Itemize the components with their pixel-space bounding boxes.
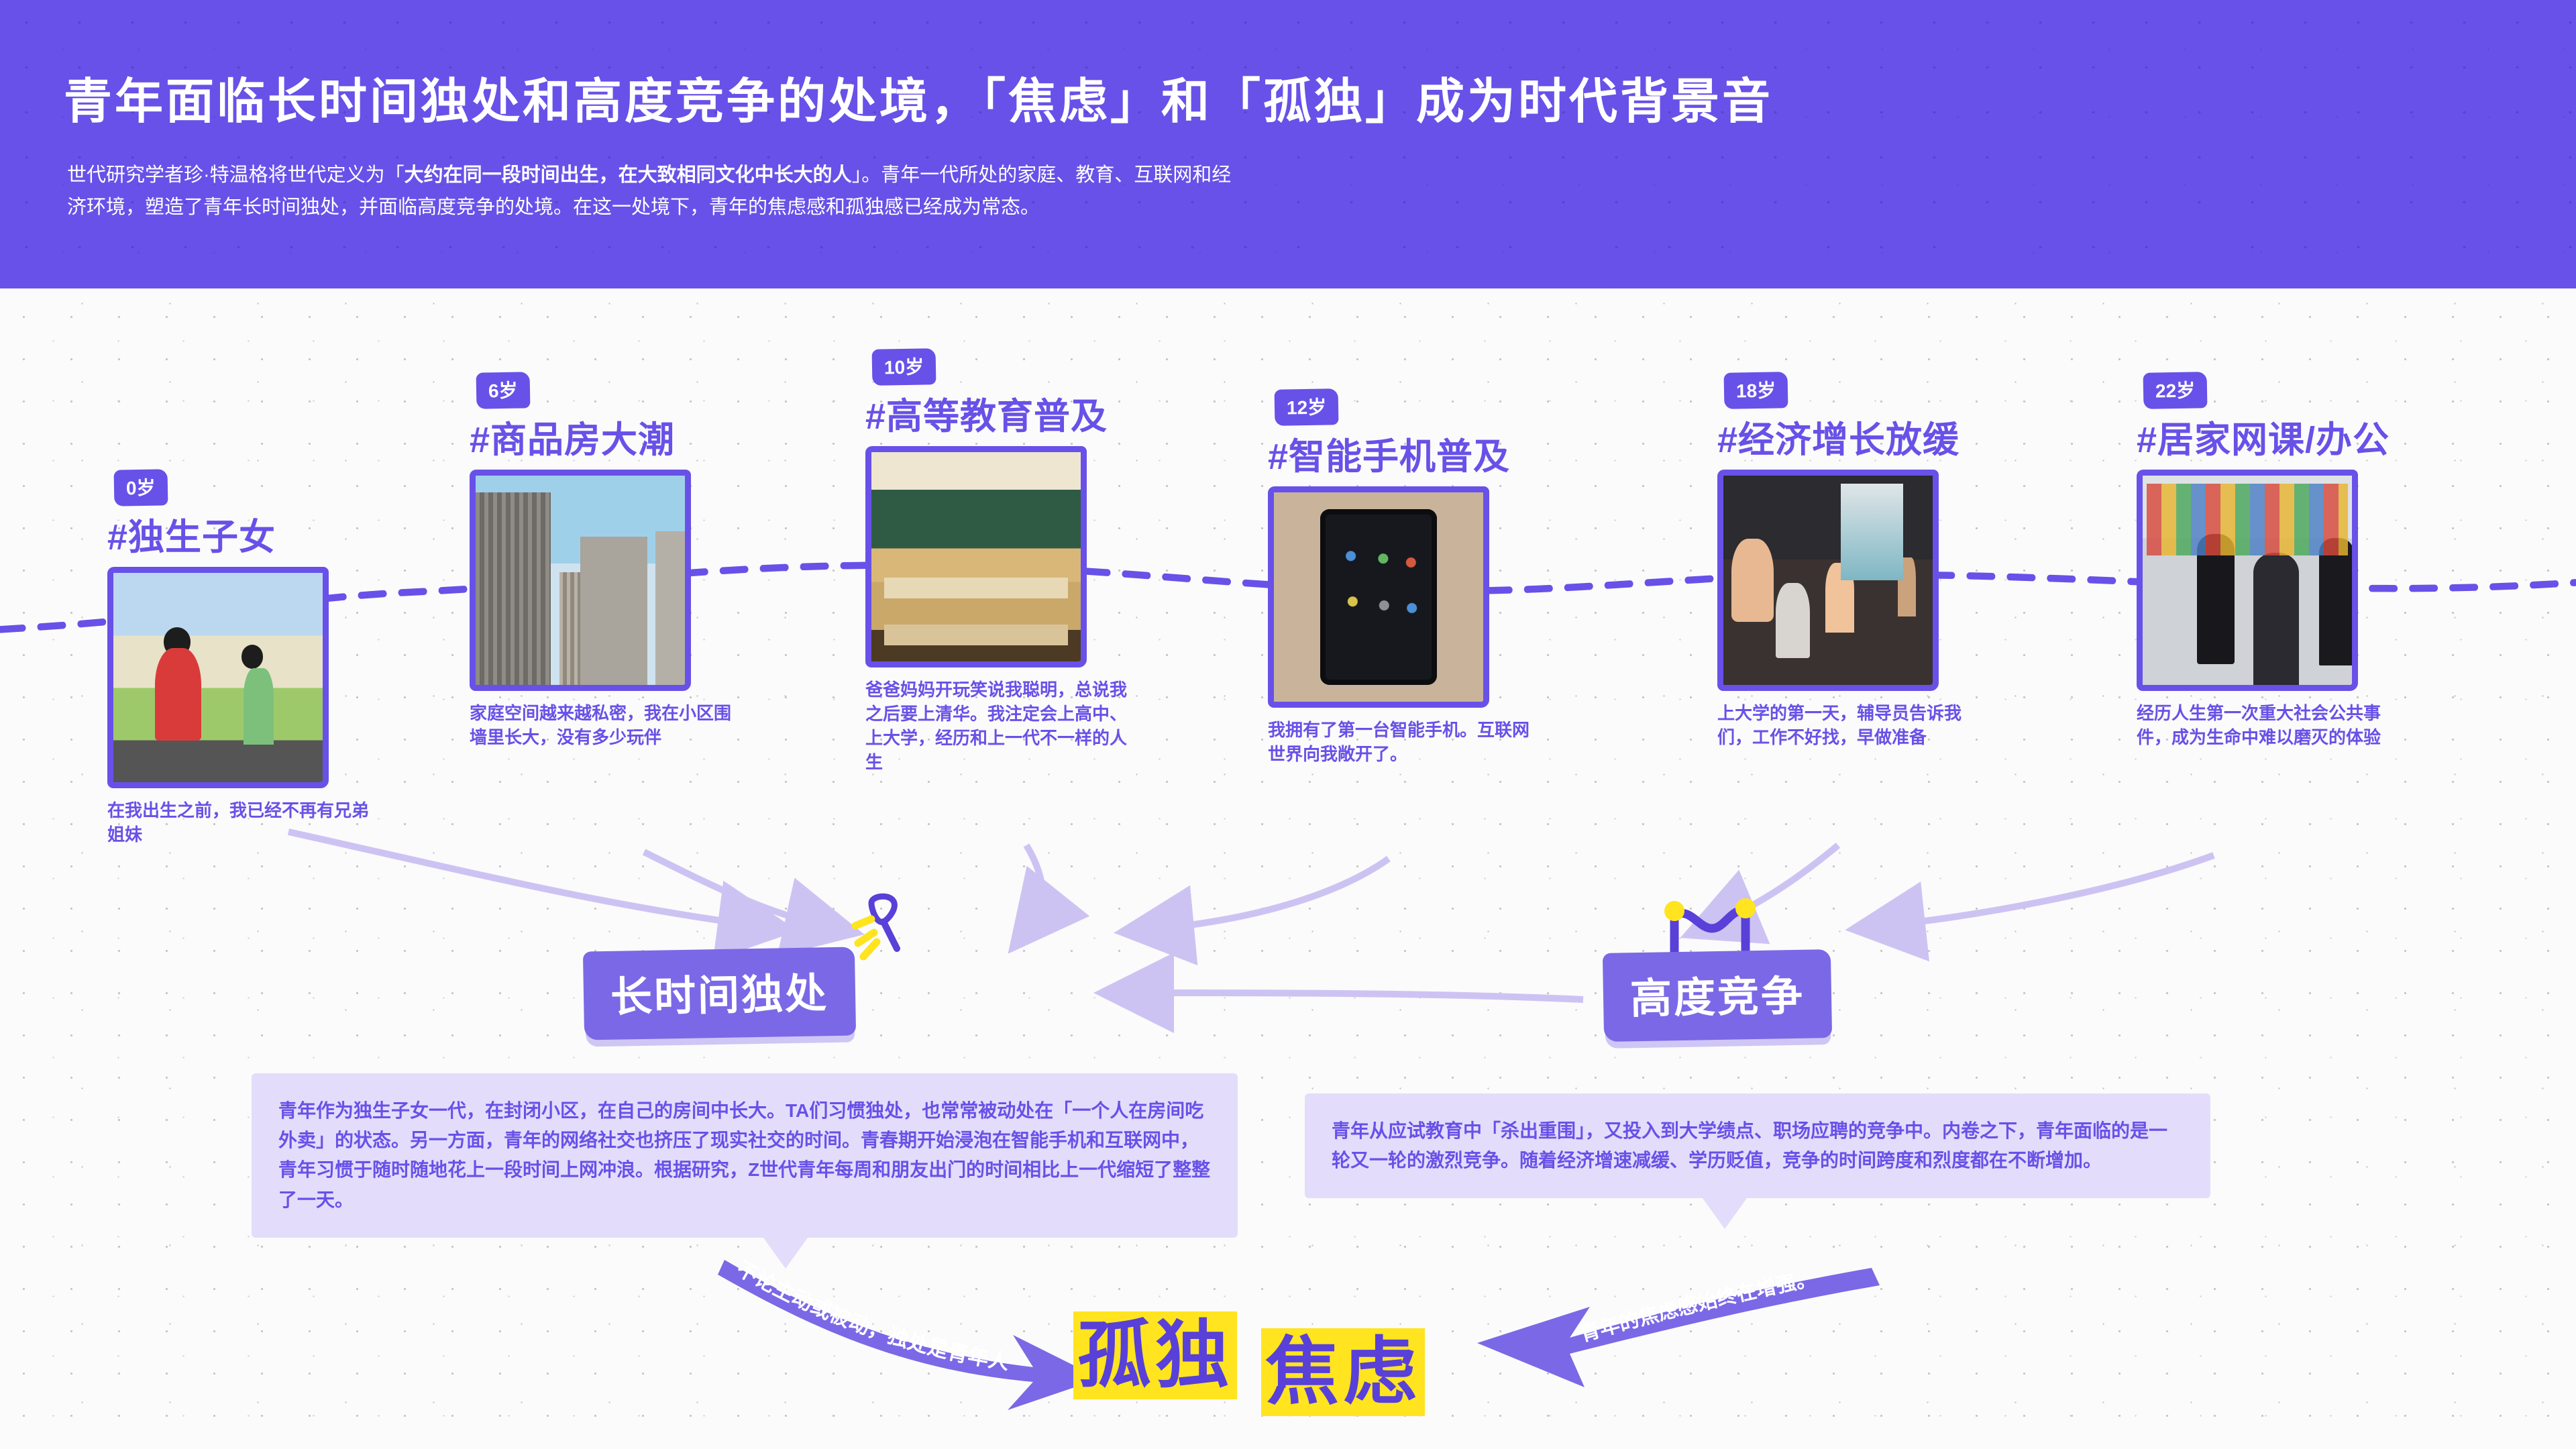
header-banner: 青年面临长时间独处和高度竞争的处境，「焦虑」和「孤独」成为时代背景音 世代研究学…	[0, 0, 2576, 288]
card-hashtag-title: #智能手机普及	[1268, 427, 1550, 480]
timeline-card-3[interactable]: 12岁 #智能手机普及 我拥有了第一台智能手机。互联网世界向我敞开了。	[1268, 389, 1550, 767]
card-photo-smartphone	[1268, 486, 1489, 708]
header-torn-edge	[0, 268, 2576, 288]
age-badge: 10岁	[872, 348, 936, 386]
age-badge: 12岁	[1275, 388, 1339, 426]
subtitle-part-a: 世代研究学者珍·特温格将世代定义为「	[67, 164, 405, 186]
svg-text:青年的焦虑感始终在增强。: 青年的焦虑感始终在增强。	[1578, 1268, 1818, 1346]
card-photo-classroom	[865, 446, 1087, 667]
conclusion-word-loneliness: 孤独	[1073, 1295, 1237, 1402]
card-hashtag-title: #高等教育普及	[865, 386, 1147, 439]
age-badge: 6岁	[476, 372, 531, 409]
timeline-card-1[interactable]: 6岁 #商品房大潮 家庭空间越来越私密，我在小区围墙里长大，没有多少玩伴	[470, 372, 751, 750]
outcome-body-left-text: 青年作为独生子女一代，在封闭小区，在自己的房间中长大。TA们习惯独处，也常常被动…	[278, 1100, 1210, 1210]
arrow-label-left: 不论主动或被动，独处是青年人的底色。	[688, 1236, 1011, 1374]
timeline-card-4[interactable]: 18岁 #经济增长放缓 上大学的第一天，辅导员告诉我们，工作不好找，早做准备	[1717, 372, 1999, 750]
outcome-label-right[interactable]: 高度竞争	[1603, 949, 1832, 1042]
card-hashtag-title: #商品房大潮	[470, 410, 751, 463]
bubble-tail-right	[1701, 1195, 1749, 1229]
arrow-label-right: 青年的焦虑感始终在增强。	[1578, 1268, 1818, 1346]
card-hashtag-title: #独生子女	[107, 507, 389, 560]
card-photo-high-rise	[470, 470, 691, 691]
converging-arrows-group	[0, 792, 2576, 1073]
lamp-icon	[849, 892, 922, 966]
card-caption: 上大学的第一天，辅导员告诉我们，工作不好找，早做准备	[1717, 702, 1986, 750]
conclusion-word-anxiety-text: 焦虑	[1261, 1328, 1425, 1416]
card-hashtag-title: #居家网课/办公	[2137, 410, 2418, 463]
age-badge: 0岁	[114, 469, 168, 506]
card-hashtag-title: #经济增长放缓	[1717, 410, 1999, 463]
svg-text:不论主动或被动，独处是青年人的底色。: 不论主动或被动，独处是青年人的底色。	[688, 1236, 1011, 1374]
age-badge: 18岁	[1724, 372, 1788, 409]
outcome-body-right-text: 青年从应试教育中「杀出重围」，又投入到大学绩点、职场应聘的竞争中。内卷之下，青年…	[1332, 1120, 2167, 1171]
conclusion-word-anxiety: 焦虑	[1261, 1311, 1425, 1419]
outcome-label-left[interactable]: 长时间独处	[583, 947, 856, 1040]
card-caption: 经历人生第一次重大社会公共事件，成为生命中难以磨灭的体验	[2137, 702, 2405, 750]
timeline-card-0[interactable]: 0岁 #独生子女 在我出生之前，我已经不再有兄弟姐妹	[107, 470, 389, 847]
subtitle-definition-bold: 大约在同一段时间出生，在大致相同文化中长大的人	[405, 164, 852, 186]
header-subtitle: 世代研究学者珍·特温格将世代定义为「大约在同一段时间出生，在大致相同文化中长大的…	[67, 160, 2012, 224]
card-photo-children-drawing	[107, 567, 329, 788]
page-title: 青年面临长时间独处和高度竞争的处境，「焦虑」和「孤独」成为时代背景音	[64, 62, 2412, 132]
arrow-right-to-conclusion: 青年的焦虑感始终在增强。	[1469, 1268, 1885, 1422]
timeline-card-2[interactable]: 10岁 #高等教育普及 爸爸妈妈开玩笑说我聪明，总说我之后要上清华。我注定会上高…	[865, 349, 1147, 775]
subtitle-part-c: 」。青年一代所处的家庭、教育、互联网和经	[852, 164, 1232, 186]
card-caption: 爸爸妈妈开玩笑说我聪明，总说我之后要上清华。我注定会上高中、上大学，经历和上一代…	[865, 678, 1134, 775]
outcome-body-right: 青年从应试教育中「杀出重围」，又投入到大学绩点、职场应聘的竞争中。内卷之下，青年…	[1305, 1093, 2210, 1198]
outcome-body-left: 青年作为独生子女一代，在封闭小区，在自己的房间中长大。TA们习惯独处，也常常被动…	[252, 1073, 1238, 1238]
conclusion-word-loneliness-text: 孤独	[1073, 1311, 1237, 1399]
subtitle-line-2: 济环境，塑造了青年长时间独处，并面临高度竞争的处境。在这一处境下，青年的焦虑感和…	[67, 197, 1040, 218]
card-photo-supermarket	[2137, 470, 2358, 691]
card-photo-lecture-hall	[1717, 470, 1939, 691]
timeline-card-5[interactable]: 22岁 #居家网课/办公 经历人生第一次重大社会公共事件，成为生命中难以磨灭的体…	[2137, 372, 2418, 750]
age-badge: 22岁	[2143, 372, 2208, 409]
card-caption: 我拥有了第一台智能手机。互联网世界向我敞开了。	[1268, 718, 1536, 767]
arrow-left-to-conclusion: 不论主动或被动，独处是青年人的底色。	[698, 1254, 1114, 1415]
card-caption: 家庭空间越来越私密，我在小区围墙里长大，没有多少玩伴	[470, 702, 738, 750]
